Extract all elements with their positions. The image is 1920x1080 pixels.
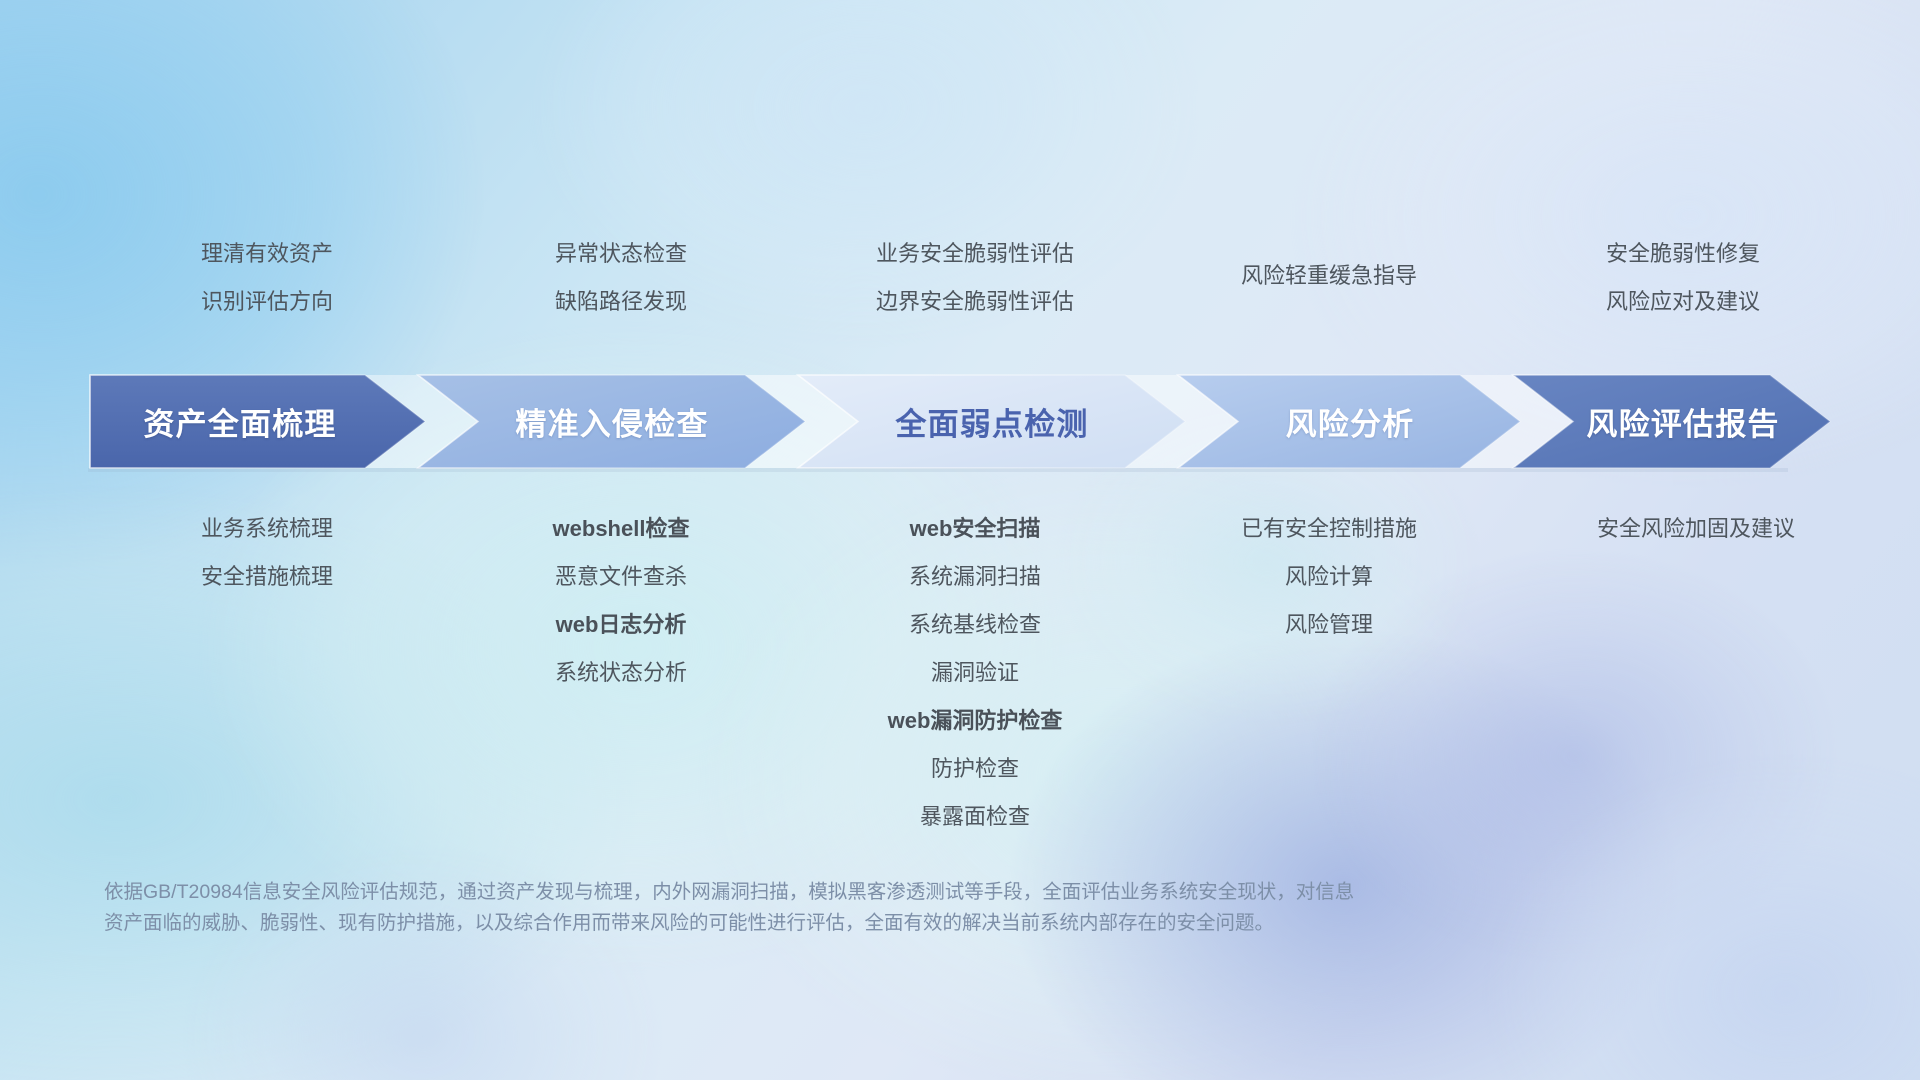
list-item: web漏洞防护检查 bbox=[798, 710, 1152, 732]
chevron-shadow bbox=[88, 468, 1788, 472]
stage-top-notes-asset-inventory: 理清有效资产 识别评估方向 bbox=[90, 243, 444, 313]
list-item: 恶意文件查杀 bbox=[444, 566, 798, 588]
stage-bottom-items-weakness-detection: web安全扫描 系统漏洞扫描 系统基线检查 漏洞验证 web漏洞防护检查 防护检… bbox=[798, 518, 1152, 828]
list-item: web日志分析 bbox=[444, 614, 798, 636]
list-item: 风险计算 bbox=[1152, 566, 1506, 588]
note-line: 安全脆弱性修复 bbox=[1506, 243, 1860, 265]
list-item: 系统状态分析 bbox=[444, 662, 798, 684]
diagram-content: 理清有效资产 识别评估方向 异常状态检查 缺陷路径发现 业务安全脆弱性评估 边界… bbox=[0, 0, 1920, 1080]
footer-line: 依据GB/T20984信息安全风险评估规范，通过资产发现与梳理，内外网漏洞扫描，… bbox=[104, 877, 1764, 908]
footer-line: 资产面临的威胁、脆弱性、现有防护措施，以及综合作用而带来风险的可能性进行评估，全… bbox=[104, 908, 1764, 939]
stage-top-notes-risk-analysis: 风险轻重缓急指导 bbox=[1152, 265, 1506, 287]
process-chevron-band: 资产全面梳理 精准入侵检查 全面弱点检测 风险分析 风险评估报告 bbox=[0, 369, 1920, 474]
list-item: 业务系统梳理 bbox=[90, 518, 444, 540]
list-item: 系统基线检查 bbox=[798, 614, 1152, 636]
stage-top-notes-risk-report: 安全脆弱性修复 风险应对及建议 bbox=[1506, 243, 1860, 313]
list-item: 系统漏洞扫描 bbox=[798, 566, 1152, 588]
stage-bottom-items-asset-inventory: 业务系统梳理 安全措施梳理 bbox=[90, 518, 444, 588]
stage-bottom-items-risk-analysis: 已有安全控制措施 风险计算 风险管理 bbox=[1152, 518, 1506, 636]
chevron-shape-asset-inventory bbox=[90, 375, 425, 468]
chevron-shapes bbox=[0, 369, 1920, 474]
note-line: 边界安全脆弱性评估 bbox=[798, 291, 1152, 313]
list-item: 漏洞验证 bbox=[798, 662, 1152, 684]
note-line: 异常状态检查 bbox=[444, 243, 798, 265]
stage-top-notes-weakness-detection: 业务安全脆弱性评估 边界安全脆弱性评估 bbox=[798, 243, 1152, 313]
list-item: 安全风险加固及建议 bbox=[1506, 518, 1886, 540]
list-item: webshell检查 bbox=[444, 518, 798, 540]
stage-top-notes-intrusion-check: 异常状态检查 缺陷路径发现 bbox=[444, 243, 798, 313]
note-line: 理清有效资产 bbox=[90, 243, 444, 265]
list-item: 已有安全控制措施 bbox=[1152, 518, 1506, 540]
note-line: 业务安全脆弱性评估 bbox=[798, 243, 1152, 265]
stage-bottom-items-risk-report: 安全风险加固及建议 bbox=[1506, 518, 1886, 540]
list-item: 暴露面检查 bbox=[798, 806, 1152, 828]
list-item: web安全扫描 bbox=[798, 518, 1152, 540]
note-line: 缺陷路径发现 bbox=[444, 291, 798, 313]
list-item: 安全措施梳理 bbox=[90, 566, 444, 588]
note-line: 风险应对及建议 bbox=[1506, 291, 1860, 313]
note-line: 识别评估方向 bbox=[90, 291, 444, 313]
list-item: 风险管理 bbox=[1152, 614, 1506, 636]
footer-description: 依据GB/T20984信息安全风险评估规范，通过资产发现与梳理，内外网漏洞扫描，… bbox=[104, 877, 1764, 939]
note-line: 风险轻重缓急指导 bbox=[1152, 265, 1506, 287]
stage-bottom-items-intrusion-check: webshell检查 恶意文件查杀 web日志分析 系统状态分析 bbox=[444, 518, 798, 684]
list-item: 防护检查 bbox=[798, 758, 1152, 780]
